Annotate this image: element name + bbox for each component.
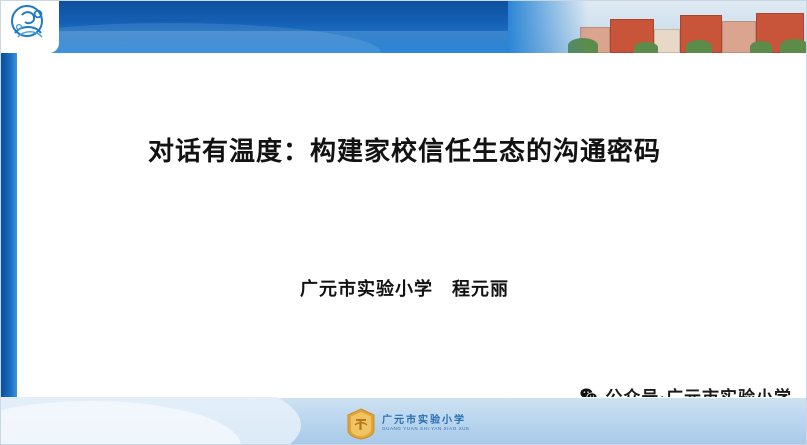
school-logo-icon xyxy=(7,3,55,49)
campus-photo xyxy=(508,1,807,53)
photo-fade-overlay xyxy=(508,1,588,53)
slide-footer-band: 广元市实验小学 GUANG YUAN SHI YAN XIAO XUE xyxy=(1,397,807,444)
photo-tree xyxy=(780,39,807,53)
school-name-cn: 广元市实验小学 xyxy=(382,416,470,427)
photo-tree xyxy=(686,40,712,53)
school-emblem-icon xyxy=(346,408,376,440)
school-name-block: 广元市实验小学 GUANG YUAN SHI YAN XIAO XUE xyxy=(382,416,470,432)
slide-author: 广元市实验小学 程元丽 xyxy=(1,275,807,301)
page-title: 对话有温度：构建家校信任生态的沟通密码 xyxy=(1,131,807,168)
photo-tree xyxy=(634,42,658,53)
slide-top-banner xyxy=(1,1,807,53)
photo-tree xyxy=(750,41,772,53)
presentation-slide: 对话有温度：构建家校信任生态的沟通密码 广元市实验小学 程元丽 公众号·广元市实… xyxy=(0,0,807,445)
school-branding: 广元市实验小学 GUANG YUAN SHI YAN XIAO XUE xyxy=(346,408,470,440)
school-name-en: GUANG YUAN SHI YAN XIAO XUE xyxy=(382,427,470,432)
left-accent-bar xyxy=(1,53,17,399)
